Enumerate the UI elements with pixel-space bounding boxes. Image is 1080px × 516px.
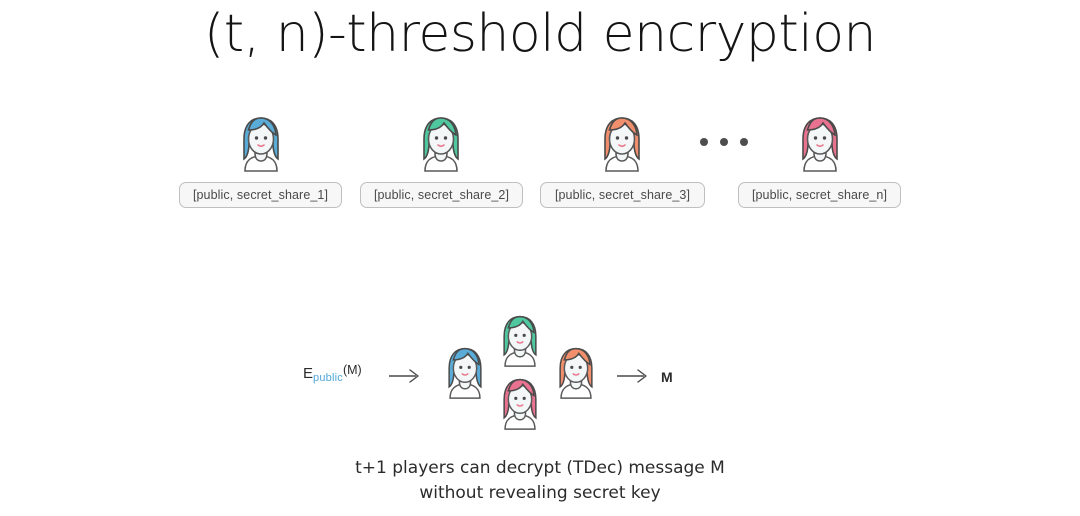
ellipsis-dot-1	[700, 138, 708, 146]
caption-line-2: without revealing secret key	[0, 481, 1080, 506]
cluster-avatar-top	[492, 311, 548, 369]
share-label-text: [public, secret_share_1]	[193, 188, 328, 202]
share-label-1: [public, secret_share_1]	[179, 182, 342, 208]
share-label-n: [public, secret_share_n]	[738, 182, 901, 208]
plaintext-output: M	[661, 369, 673, 385]
share-label-text: [public, secret_share_2]	[374, 188, 509, 202]
right-arrow-icon	[388, 367, 422, 385]
cluster-avatar-bottom	[492, 374, 548, 432]
ellipsis-dot-2	[720, 138, 728, 146]
person-avatar-icon	[492, 311, 548, 369]
person-avatar-icon	[492, 374, 548, 432]
person-avatar-icon	[548, 343, 604, 401]
ellipsis-dot-3	[740, 138, 748, 146]
cluster-avatar-right	[548, 343, 604, 401]
participant-avatar-n	[790, 113, 850, 173]
ciphertext-argument: (M)	[343, 363, 362, 377]
ciphertext-base: E	[303, 365, 313, 382]
arrow-left	[388, 367, 422, 385]
ellipsis-icon	[700, 134, 748, 150]
caption-line-1: t+1 players can decrypt (TDec) message M	[0, 456, 1080, 481]
participant-avatar-1	[231, 113, 291, 173]
participant-avatar-2	[411, 113, 471, 173]
share-label-3: [public, secret_share_3]	[540, 182, 705, 208]
person-avatar-icon	[592, 113, 652, 173]
person-avatar-icon	[411, 113, 471, 173]
share-label-2: [public, secret_share_2]	[360, 182, 523, 208]
right-arrow-icon	[616, 367, 650, 385]
participant-avatar-3	[592, 113, 652, 173]
person-avatar-icon	[790, 113, 850, 173]
arrow-right	[616, 367, 650, 385]
ciphertext-expression: Epublic(M)	[303, 364, 362, 384]
share-label-text: [public, secret_share_3]	[555, 188, 690, 202]
person-avatar-icon	[437, 343, 493, 401]
cluster-avatar-left	[437, 343, 493, 401]
page-title: (t, n)-threshold encryption	[0, 4, 1080, 64]
ciphertext-subscript: public	[313, 372, 343, 384]
caption: t+1 players can decrypt (TDec) message M…	[0, 456, 1080, 506]
person-avatar-icon	[231, 113, 291, 173]
share-label-text: [public, secret_share_n]	[752, 188, 887, 202]
